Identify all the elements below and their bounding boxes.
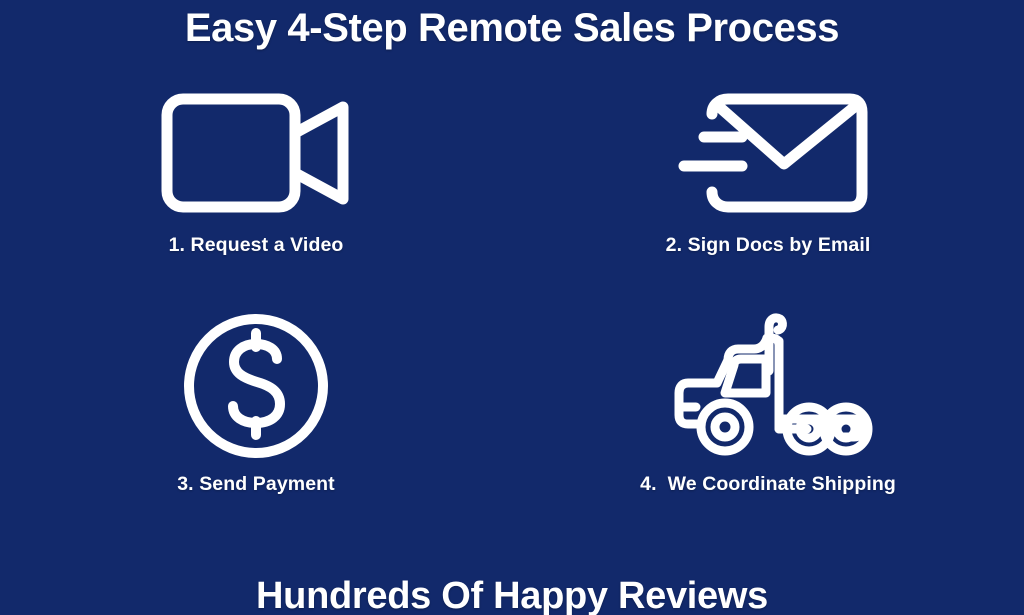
page-title: Easy 4-Step Remote Sales Process <box>0 4 1024 52</box>
video-camera-icon <box>161 88 351 218</box>
step-label-1: 1. Request a Video <box>169 234 344 257</box>
step-label-4: 4. We Coordinate Shipping <box>640 473 896 496</box>
step-item-we-coordinate-shipping: 4. We Coordinate Shipping <box>512 313 1024 538</box>
step-item-send-payment: 3. Send Payment <box>0 313 512 538</box>
footer-headline: Hundreds Of Happy Reviews <box>0 573 1024 615</box>
step-label-3: 3. Send Payment <box>177 473 335 496</box>
step-label-2: 2. Sign Docs by Email <box>666 234 871 257</box>
envelope-email-icon <box>668 88 868 218</box>
steps-grid: 1. Request a Video 2. Sign Docs by Email <box>0 88 1024 538</box>
semi-truck-icon <box>668 313 868 453</box>
step-item-sign-docs-by-email: 2. Sign Docs by Email <box>512 88 1024 313</box>
infographic-root: Easy 4-Step Remote Sales Process 1. Requ… <box>0 0 1024 615</box>
step-item-request-a-video: 1. Request a Video <box>0 88 512 313</box>
dollar-coin-icon <box>181 313 331 453</box>
